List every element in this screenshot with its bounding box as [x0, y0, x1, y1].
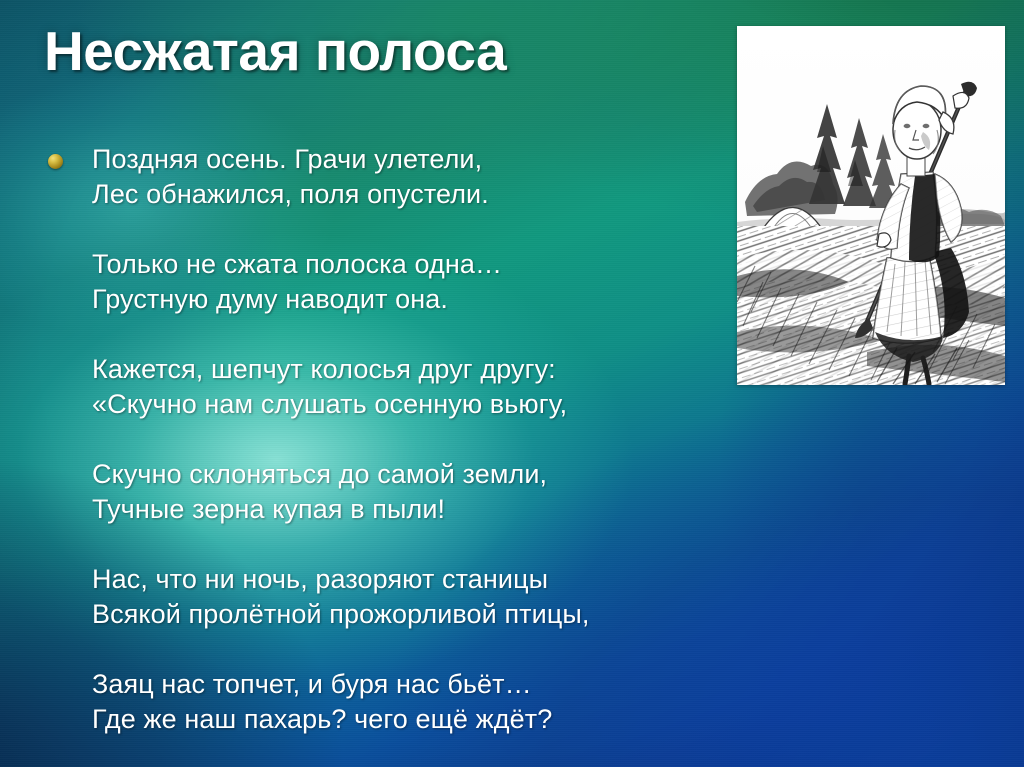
poem-text: Поздняя осень. Грачи улетели, Лес обнажи… — [92, 142, 728, 737]
poem-line: Грустную думу наводит она. — [92, 282, 728, 317]
poem-line: Нас, что ни ночь, разоряют станицы — [92, 562, 728, 597]
poem-line: Где же наш пахарь? чего ещё ждёт? — [92, 702, 728, 737]
presentation-slide: Несжатая полоса Поздняя осень. Грачи уле… — [0, 0, 1024, 767]
poem-stanza: Нас, что ни ночь, разоряют станицы Всяко… — [92, 562, 728, 632]
poem-stanza: Скучно склоняться до самой земли, Тучные… — [92, 457, 728, 527]
poem-content-block: Поздняя осень. Грачи улетели, Лес обнажи… — [48, 142, 728, 737]
poem-stanza: Кажется, шепчут колосья друг другу: «Ску… — [92, 352, 728, 422]
poem-line: Поздняя осень. Грачи улетели, — [92, 142, 728, 177]
bulleted-poem-row: Поздняя осень. Грачи улетели, Лес обнажи… — [48, 142, 728, 737]
poem-stanza: Поздняя осень. Грачи улетели, Лес обнажи… — [92, 142, 728, 212]
poem-stanza: Только не сжата полоска одна… Грустную д… — [92, 247, 728, 317]
poem-line: Лес обнажился, поля опустели. — [92, 177, 728, 212]
poem-line: Кажется, шепчут колосья друг другу: — [92, 352, 728, 387]
poem-stanza: Заяц нас топчет, и буря нас бьёт… Где же… — [92, 667, 728, 737]
poem-line: Всякой пролётной прожорливой птицы, — [92, 597, 728, 632]
poem-line: Скучно склоняться до самой земли, — [92, 457, 728, 492]
poem-line: Заяц нас топчет, и буря нас бьёт… — [92, 667, 728, 702]
poem-line: «Скучно нам слушать осенную вьюгу, — [92, 387, 728, 422]
gold-sphere-bullet-icon — [48, 154, 63, 169]
slide-title: Несжатая полоса — [44, 22, 704, 81]
peasant-woman-in-unreaped-field-illustration — [737, 26, 1005, 385]
poem-line: Тучные зерна купая в пыли! — [92, 492, 728, 527]
poem-line: Только не сжата полоска одна… — [92, 247, 728, 282]
